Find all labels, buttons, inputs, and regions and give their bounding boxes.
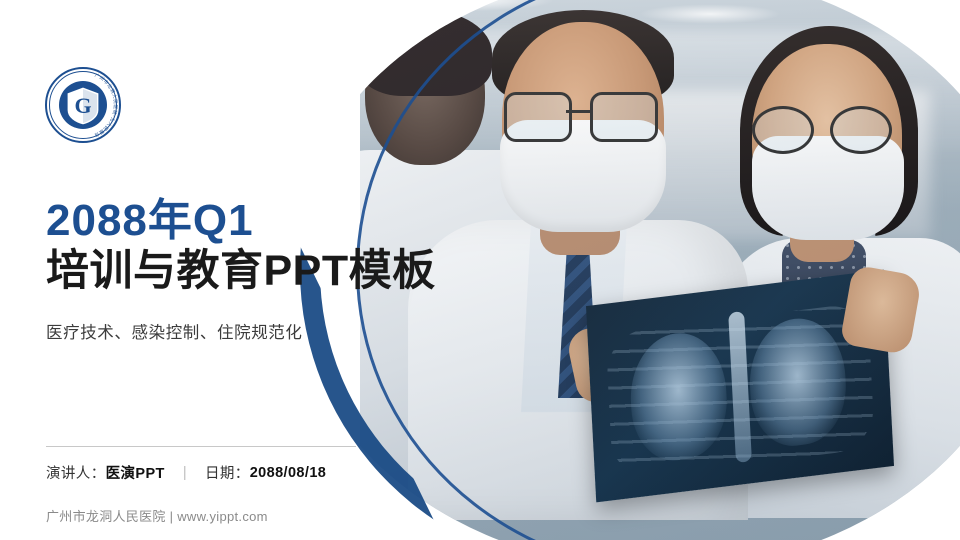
footer-text: 广州市龙洞人民医院 | www.yippt.com xyxy=(46,506,268,525)
meta-separator: | xyxy=(183,465,187,481)
svg-text:G: G xyxy=(74,93,91,118)
speaker-label: 演讲人： xyxy=(46,462,106,483)
meta-row: 演讲人： 医演PPT | 日期： 2088/08/18 xyxy=(46,462,326,483)
date-label: 日期： xyxy=(205,462,250,483)
date-value: 2088/08/18 xyxy=(250,465,327,481)
doctor-right-glasses-right xyxy=(830,106,892,154)
page-subtitle: 医疗技术、感染控制、住院规范化 xyxy=(46,319,436,343)
meta-divider xyxy=(46,446,356,447)
slide-left-column: G 广州市龙洞人民医院·为人民服务 2088年Q1 培训与教育PPT模板 医疗技… xyxy=(0,0,440,540)
presentation-slide: G 广州市龙洞人民医院·为人民服务 2088年Q1 培训与教育PPT模板 医疗技… xyxy=(0,0,960,540)
hospital-emblem-icon: G 广州市龙洞人民医院·为人民服务 xyxy=(44,66,122,144)
page-title-line1: 2088年Q1 xyxy=(46,196,436,245)
doctor-center-glasses-right xyxy=(590,92,658,142)
title-block: 2088年Q1 培训与教育PPT模板 医疗技术、感染控制、住院规范化 xyxy=(46,196,436,343)
speaker-value: 医演PPT xyxy=(106,462,165,483)
page-title-line2: 培训与教育PPT模板 xyxy=(46,247,436,296)
doctor-right-glasses-left xyxy=(752,106,814,154)
